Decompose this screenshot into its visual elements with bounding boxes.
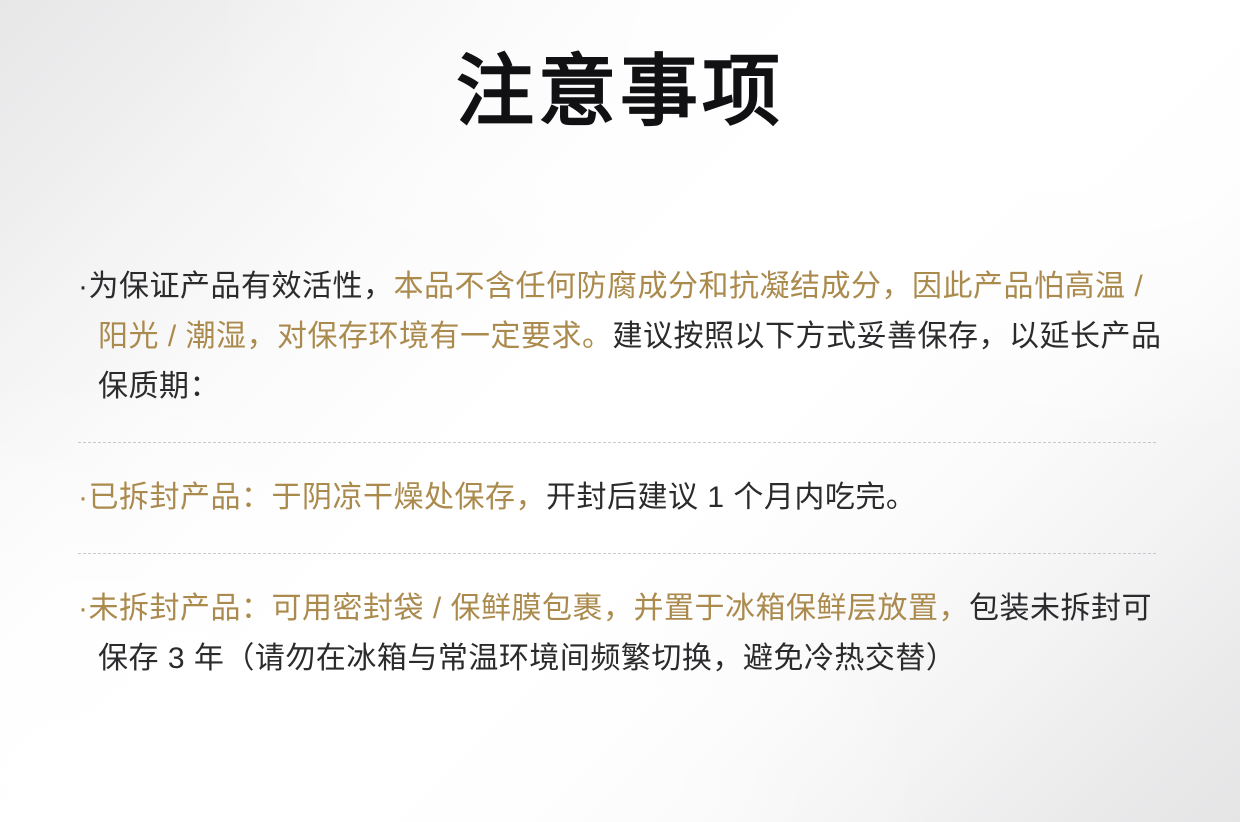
page-title: 注意事项 xyxy=(0,52,1240,130)
text-run-dark-1: 为保证产品有效活性， xyxy=(89,270,394,303)
section-paragraph: ·为保证产品有效活性，本品不含任何防腐成分和抗凝结成分，因此产品怕高温 / 阳光… xyxy=(78,262,1166,412)
text-run-gold-1: 未拆封产品：可用密封袋 / 保鲜膜包裹，并置于冰箱保鲜层放置， xyxy=(89,592,970,625)
divider-1 xyxy=(78,442,1156,443)
bullet-marker: · xyxy=(78,270,89,303)
section-paragraph: ·已拆封产品：于阴凉干燥处保存，开封后建议 1 个月内吃完。 xyxy=(78,473,1166,523)
section-opened-product: ·已拆封产品：于阴凉干燥处保存，开封后建议 1 个月内吃完。 xyxy=(78,473,1166,523)
bullet-marker: · xyxy=(78,592,89,625)
notice-body: ·为保证产品有效活性，本品不含任何防腐成分和抗凝结成分，因此产品怕高温 / 阳光… xyxy=(78,232,1166,714)
text-run-dark-1: 开封后建议 1 个月内吃完。 xyxy=(546,481,916,514)
notice-page: 注意事项 ·为保证产品有效活性，本品不含任何防腐成分和抗凝结成分，因此产品怕高温… xyxy=(0,0,1240,822)
section-paragraph: ·未拆封产品：可用密封袋 / 保鲜膜包裹，并置于冰箱保鲜层放置，包装未拆封可保存… xyxy=(78,584,1166,684)
section-storage-intro: ·为保证产品有效活性，本品不含任何防腐成分和抗凝结成分，因此产品怕高温 / 阳光… xyxy=(78,262,1166,412)
section-unopened-product: ·未拆封产品：可用密封袋 / 保鲜膜包裹，并置于冰箱保鲜层放置，包装未拆封可保存… xyxy=(78,584,1166,684)
text-run-gold-1: 已拆封产品：于阴凉干燥处保存， xyxy=(89,481,547,514)
bullet-marker: · xyxy=(78,481,89,514)
divider-2 xyxy=(78,553,1156,554)
